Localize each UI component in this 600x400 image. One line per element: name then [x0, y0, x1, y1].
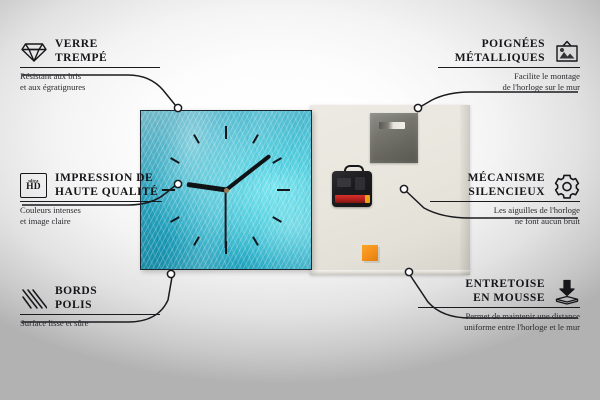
arrow-onto-pad-icon [553, 278, 580, 305]
callout-rule [20, 201, 162, 202]
second-hand [225, 190, 227, 248]
clock-tick [225, 126, 227, 190]
battery [335, 195, 366, 203]
callout-impression-haute-qualite: ultra HD IMPRESSION DE HAUTE QUALITÉ Cou… [20, 172, 162, 227]
mechanism-detail-right [355, 177, 365, 190]
callout-title: VERRE TREMPÉ [55, 38, 107, 65]
callout-rule [20, 67, 160, 68]
callout-title: MÉCANISME SILENCIEUX [468, 172, 545, 199]
callout-bords-polis: BORDS POLIS Surface lisse et sûre [20, 285, 160, 329]
callout-rule [430, 201, 580, 202]
callout-header: ultra HD IMPRESSION DE HAUTE QUALITÉ [20, 172, 162, 199]
ultra-hd-icon: ultra HD [20, 172, 47, 199]
callout-mecanisme-silencieux: MÉCANISME SILENCIEUX Les aiguilles de l'… [430, 172, 580, 227]
callout-description: Permet de maintenir une distance uniform… [418, 311, 580, 333]
callout-title: BORDS POLIS [55, 285, 97, 312]
wall-clock-face [140, 110, 312, 270]
hands-center-cap [224, 188, 229, 193]
callout-description: Surface lisse et sûre [20, 318, 160, 329]
mechanism-body [332, 171, 372, 207]
infographic-canvas: VERRE TREMPÉ Résistant aux bris et aux é… [0, 0, 600, 400]
ultra-hd-large-text: HD [26, 183, 41, 193]
callout-title: ENTRETOISE EN MOUSSE [465, 278, 545, 305]
callout-rule [438, 67, 580, 68]
callout-description: Résistant aux bris et aux égratignures [20, 71, 160, 93]
callout-description: Facilite le montage de l'horloge sur le … [438, 71, 580, 93]
callout-header: BORDS POLIS [20, 285, 160, 312]
gear-icon [553, 172, 580, 199]
hanger-slot [379, 122, 405, 129]
callout-rule [20, 314, 160, 315]
callout-title: POIGNÉES MÉTALLIQUES [455, 38, 545, 65]
callout-rule [418, 307, 580, 308]
callout-entretoise-en-mousse: ENTRETOISE EN MOUSSE Permet de maintenir… [418, 278, 580, 333]
callout-description: Couleurs intenses et image claire [20, 205, 162, 227]
mechanism-detail-left [337, 178, 351, 187]
callout-poignees-metalliques: POIGNÉES MÉTALLIQUES Facilite le montage… [438, 38, 580, 93]
metal-hanger-plate [370, 113, 418, 163]
battery-terminal [365, 195, 370, 203]
callout-header: ENTRETOISE EN MOUSSE [418, 278, 580, 305]
clock-tick [226, 189, 290, 191]
diagonal-lines-icon [20, 285, 47, 312]
product-image [140, 105, 470, 275]
callout-header: POIGNÉES MÉTALLIQUES [438, 38, 580, 65]
diamond-icon [20, 38, 47, 65]
callout-header: MÉCANISME SILENCIEUX [430, 172, 580, 199]
foam-spacer [362, 245, 378, 261]
callout-title: IMPRESSION DE HAUTE QUALITÉ [55, 172, 158, 199]
picture-frame-icon [553, 38, 580, 65]
callout-description: Les aiguilles de l'horloge ne font aucun… [430, 205, 580, 227]
callout-verre-trempe: VERRE TREMPÉ Résistant aux bris et aux é… [20, 38, 160, 93]
clock-mechanism [332, 165, 372, 207]
callout-header: VERRE TREMPÉ [20, 38, 160, 65]
